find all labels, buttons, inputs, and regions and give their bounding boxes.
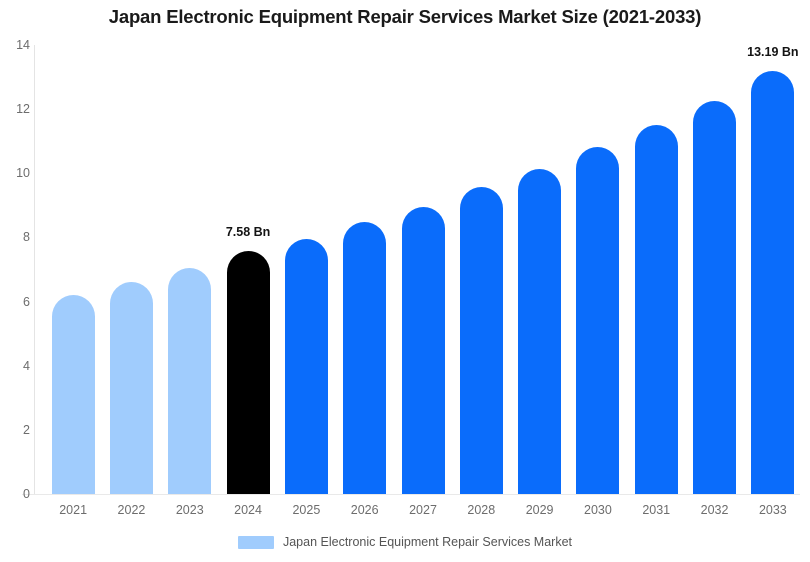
x-axis-tick: 2029	[526, 503, 554, 517]
x-axis-tick: 2033	[759, 503, 787, 517]
y-axis-tick-labels: 02468101214	[0, 0, 30, 562]
x-axis-tick: 2030	[584, 503, 612, 517]
bar[interactable]	[693, 101, 736, 494]
bar-group[interactable]	[343, 45, 386, 494]
x-axis-line	[22, 494, 800, 495]
bar[interactable]	[52, 295, 95, 494]
chart-container: Japan Electronic Equipment Repair Servic…	[0, 0, 810, 562]
y-axis-tick: 6	[4, 295, 30, 309]
x-axis-tick: 2027	[409, 503, 437, 517]
y-axis-tick: 4	[4, 359, 30, 373]
bar[interactable]	[635, 125, 678, 494]
chart-legend: Japan Electronic Equipment Repair Servic…	[0, 535, 810, 549]
x-axis-tick: 2021	[59, 503, 87, 517]
y-axis-tick: 0	[4, 487, 30, 501]
bar-group[interactable]	[460, 45, 503, 494]
bar[interactable]	[751, 71, 794, 494]
bar[interactable]	[402, 207, 445, 494]
y-axis-tick: 8	[4, 230, 30, 244]
bar[interactable]	[110, 282, 153, 494]
bar-group[interactable]	[168, 45, 211, 494]
y-axis-tick: 10	[4, 166, 30, 180]
legend-label: Japan Electronic Equipment Repair Servic…	[283, 535, 572, 549]
bar[interactable]	[460, 187, 503, 494]
x-axis-tick: 2025	[292, 503, 320, 517]
bar[interactable]	[285, 239, 328, 494]
x-axis-tick: 2032	[701, 503, 729, 517]
x-axis-tick: 2026	[351, 503, 379, 517]
bar[interactable]	[576, 147, 619, 494]
bar[interactable]	[343, 222, 386, 494]
x-axis-tick: 2028	[467, 503, 495, 517]
bar[interactable]	[227, 251, 270, 494]
bar-group[interactable]: 13.19 Bn	[751, 45, 794, 494]
bar-value-label: 7.58 Bn	[226, 225, 270, 239]
bar-group[interactable]	[518, 45, 561, 494]
x-axis-tick: 2022	[118, 503, 146, 517]
bar-group[interactable]: 7.58 Bn	[227, 45, 270, 494]
bar-group[interactable]	[285, 45, 328, 494]
x-axis-tick: 2024	[234, 503, 262, 517]
bar[interactable]	[168, 268, 211, 494]
x-axis-tick: 2023	[176, 503, 204, 517]
bar-group[interactable]	[576, 45, 619, 494]
bar-group[interactable]	[402, 45, 445, 494]
y-axis-tick: 2	[4, 423, 30, 437]
bar-group[interactable]	[52, 45, 95, 494]
y-axis-tick: 12	[4, 102, 30, 116]
bar-group[interactable]	[110, 45, 153, 494]
bar-group[interactable]	[693, 45, 736, 494]
y-axis-tick: 14	[4, 38, 30, 52]
x-axis-tick: 2031	[642, 503, 670, 517]
bar-group[interactable]	[635, 45, 678, 494]
bar-value-label: 13.19 Bn	[747, 45, 798, 59]
bar[interactable]	[518, 169, 561, 494]
chart-title: Japan Electronic Equipment Repair Servic…	[0, 6, 810, 28]
legend-swatch-icon	[238, 536, 274, 549]
plot-area: 7.58 Bn13.19 Bn	[34, 45, 800, 494]
